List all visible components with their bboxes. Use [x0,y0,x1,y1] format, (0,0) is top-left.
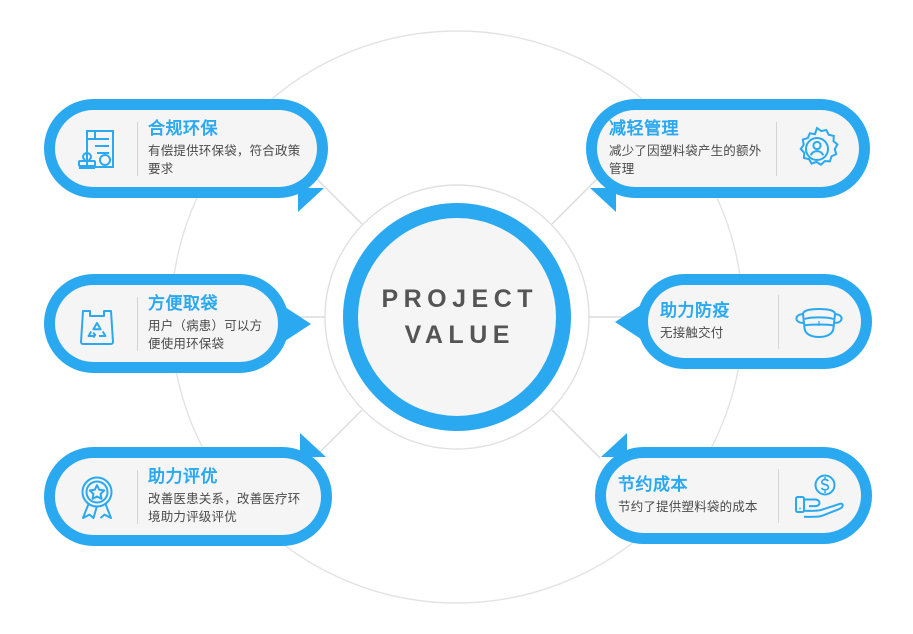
value-card-bag[interactable]: 方便取袋 用户（病患）可以方便使用环保袋 [44,274,289,373]
connector-bottom-right [552,410,600,458]
card-title-bag: 方便取袋 [148,293,266,316]
card-body-rating: 助力评优 改善医患关系，改善医疗环境助力评级评优 [55,458,321,535]
card-body-compliance: 合规环保 有偿提供环保袋，符合政策要求 [55,110,317,187]
card-desc-epidemic: 无接触交付 [660,324,768,343]
card-divider [778,295,779,349]
card-desc-cost: 节约了提供塑料袋的成本 [618,498,768,517]
card-divider [137,122,138,176]
value-card-manage[interactable]: 减轻管理 减少了因塑料袋产生的额外管理 [586,99,870,198]
card-body-manage: 减轻管理 减少了因塑料袋产生的额外管理 [597,110,859,187]
card-desc-compliance: 有偿提供环保袋，符合政策要求 [148,142,305,180]
recycle-bag-icon [65,296,129,352]
card-text-compliance: 合规环保 有偿提供环保袋，符合政策要求 [146,118,307,179]
stamped-document-icon [65,121,129,177]
card-title-compliance: 合规环保 [148,118,305,141]
center-hub: PROJECT VALUE [343,203,571,431]
value-card-rating[interactable]: 助力评优 改善医患关系，改善医疗环境助力评级评优 [44,447,332,546]
card-text-bag: 方便取袋 用户（病患）可以方便使用环保袋 [146,293,268,354]
card-tail-rating [300,433,326,457]
hub-title-line-2: VALUE [399,317,515,353]
card-text-cost: 节约成本 节约了提供塑料袋的成本 [616,474,770,517]
hand-coin-icon [787,468,851,524]
card-desc-manage: 减少了因塑料袋产生的额外管理 [609,142,766,180]
card-title-cost: 节约成本 [618,474,768,497]
card-tail-cost [601,433,627,457]
infographic-canvas: PROJECT VALUE 合规环保 有 [0,0,913,634]
card-text-manage: 减轻管理 减少了因塑料袋产生的额外管理 [607,118,768,179]
value-card-cost[interactable]: 节约成本 节约了提供塑料袋的成本 [595,447,872,544]
card-tail-epidemic [615,305,641,339]
gear-user-icon [785,121,849,177]
card-body-bag: 方便取袋 用户（病患）可以方便使用环保袋 [55,285,278,362]
card-divider [137,297,138,351]
card-title-epidemic: 助力防疫 [660,300,768,323]
card-title-rating: 助力评优 [148,466,309,489]
value-card-epidemic[interactable]: 助力防疫 无接触交付 [637,274,872,369]
card-desc-rating: 改善医患关系，改善医疗环境助力评级评优 [148,490,309,528]
hub-title-line-1: PROJECT [376,281,538,317]
card-desc-bag: 用户（病患）可以方便使用环保袋 [148,317,266,355]
card-tail-compliance [298,188,324,212]
card-title-manage: 减轻管理 [609,118,766,141]
card-text-rating: 助力评优 改善医患关系，改善医疗环境助力评级评优 [146,466,311,527]
card-divider [778,469,779,523]
award-medal-icon [65,469,129,525]
face-mask-icon [787,294,851,350]
card-divider [776,122,777,176]
card-tail-manage [590,188,616,212]
value-card-compliance[interactable]: 合规环保 有偿提供环保袋，符合政策要求 [44,99,328,198]
card-text-epidemic: 助力防疫 无接触交付 [658,300,770,343]
card-body-epidemic: 助力防疫 无接触交付 [648,285,861,358]
card-divider [137,470,138,524]
card-tail-bag [285,307,311,341]
card-body-cost: 节约成本 节约了提供塑料袋的成本 [606,458,861,533]
